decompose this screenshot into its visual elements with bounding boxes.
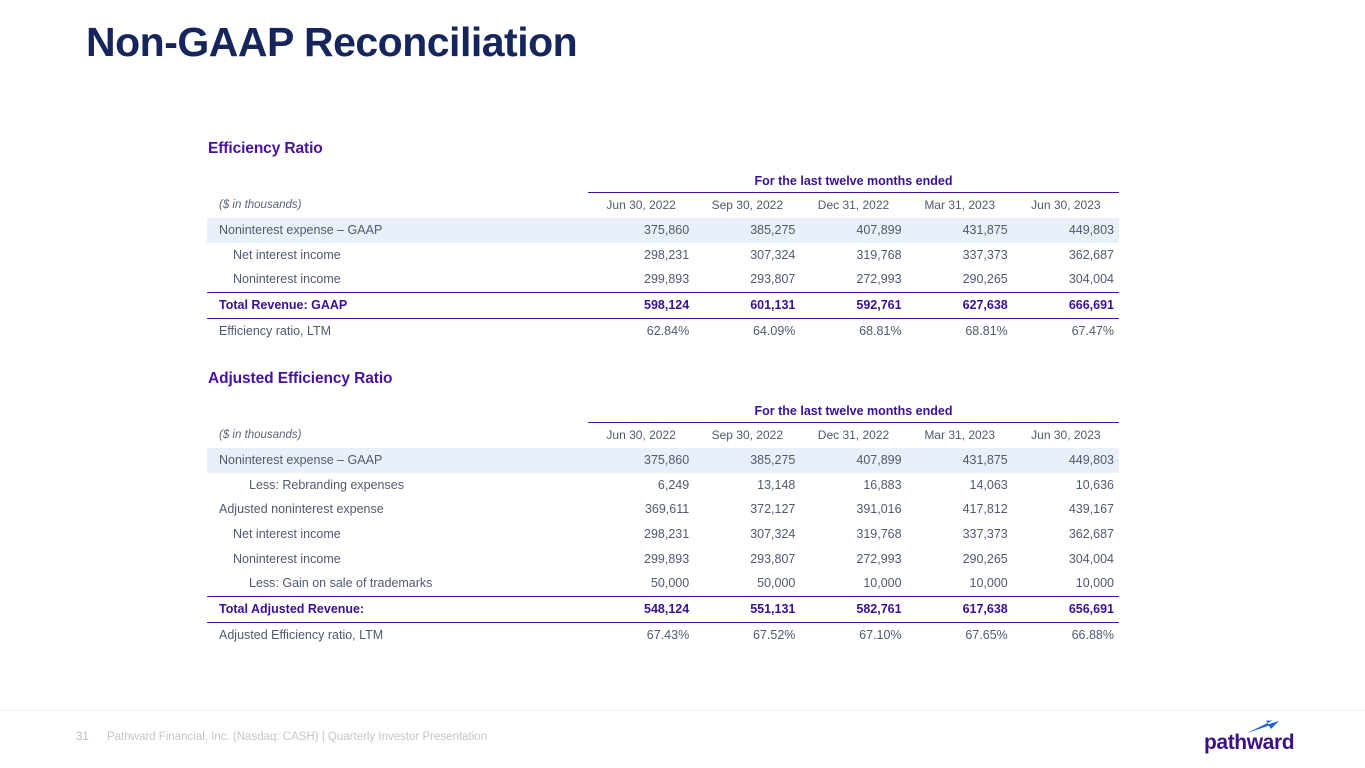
row-label: Total Adjusted Revenue:: [207, 596, 588, 622]
row-value: 304,004: [1013, 546, 1119, 571]
row-value: 431,875: [907, 448, 1013, 473]
row-value: 66.88%: [1013, 622, 1119, 647]
efficiency-ratio-table: ($ in thousands) Jun 30, 2022 Sep 30, 20…: [207, 192, 1119, 343]
footer-divider: [0, 710, 1365, 711]
row-value: 10,000: [1013, 571, 1119, 596]
logo-wordmark: pathward: [1204, 732, 1294, 753]
row-label: Noninterest income: [207, 546, 588, 571]
row-value: 10,636: [1013, 473, 1119, 498]
row-label: Adjusted Efficiency ratio, LTM: [207, 622, 588, 647]
table-row: Noninterest expense – GAAP375,860385,275…: [207, 218, 1119, 243]
row-value: 67.10%: [800, 622, 906, 647]
footer-page-number: 31: [76, 731, 89, 743]
column-header-3: Dec 31, 2022: [800, 193, 906, 219]
row-label: Less: Rebranding expenses: [207, 473, 588, 498]
table-row: Noninterest expense – GAAP375,860385,275…: [207, 448, 1119, 473]
table-row: Adjusted Efficiency ratio, LTM67.43%67.5…: [207, 622, 1119, 647]
column-header-4: Mar 31, 2023: [907, 193, 1013, 219]
row-value: 362,687: [1013, 243, 1119, 268]
span-header-adjusted: For the last twelve months ended: [588, 404, 1119, 422]
row-value: 319,768: [800, 522, 906, 547]
row-value: 362,687: [1013, 522, 1119, 547]
row-value: 299,893: [588, 546, 694, 571]
row-value: 598,124: [588, 292, 694, 318]
row-value: 10,000: [907, 571, 1013, 596]
row-value: 439,167: [1013, 497, 1119, 522]
row-label: Efficiency ratio, LTM: [207, 318, 588, 343]
row-value: 290,265: [907, 267, 1013, 292]
efficiency-ratio-table-block: Efficiency Ratio For the last twelve mon…: [207, 140, 1119, 343]
column-header-5: Jun 30, 2023: [1013, 423, 1119, 449]
table-row: Less: Rebranding expenses6,24913,14816,8…: [207, 473, 1119, 498]
table-row: Total Revenue: GAAP598,124601,131592,761…: [207, 292, 1119, 318]
row-value: 375,860: [588, 218, 694, 243]
section-title-efficiency-ratio: Efficiency Ratio: [208, 140, 1119, 158]
row-value: 601,131: [694, 292, 800, 318]
column-header-2: Sep 30, 2022: [694, 193, 800, 219]
table-row: Net interest income298,231307,324319,768…: [207, 522, 1119, 547]
row-value: 272,993: [800, 546, 906, 571]
row-value: 666,691: [1013, 292, 1119, 318]
row-value: 319,768: [800, 243, 906, 268]
footer-text: Pathward Financial, Inc. (Nasdaq: CASH) …: [107, 731, 487, 743]
row-value: 449,803: [1013, 448, 1119, 473]
column-header-1: Jun 30, 2022: [588, 193, 694, 219]
row-value: 407,899: [800, 448, 906, 473]
row-value: 656,691: [1013, 596, 1119, 622]
efficiency-ratio-table-body: Noninterest expense – GAAP375,860385,275…: [207, 218, 1119, 343]
row-value: 67.47%: [1013, 318, 1119, 343]
table-row: Noninterest income299,893293,807272,9932…: [207, 267, 1119, 292]
row-label: Net interest income: [207, 522, 588, 547]
row-label: Adjusted noninterest expense: [207, 497, 588, 522]
pathward-logo: pathward: [1204, 720, 1300, 758]
unit-note: ($ in thousands): [207, 193, 588, 219]
adjusted-efficiency-ratio-table-body: Noninterest expense – GAAP375,860385,275…: [207, 448, 1119, 647]
row-value: 548,124: [588, 596, 694, 622]
table-row: Efficiency ratio, LTM62.84%64.09%68.81%6…: [207, 318, 1119, 343]
adjusted-efficiency-ratio-table-block: Adjusted Efficiency Ratio For the last t…: [207, 370, 1119, 647]
row-value: 6,249: [588, 473, 694, 498]
row-value: 431,875: [907, 218, 1013, 243]
row-label: Noninterest expense – GAAP: [207, 218, 588, 243]
row-value: 385,275: [694, 218, 800, 243]
row-value: 582,761: [800, 596, 906, 622]
row-value: 592,761: [800, 292, 906, 318]
row-value: 449,803: [1013, 218, 1119, 243]
row-value: 307,324: [694, 522, 800, 547]
row-value: 417,812: [907, 497, 1013, 522]
table-header-row: ($ in thousands) Jun 30, 2022 Sep 30, 20…: [207, 423, 1119, 449]
row-label: Less: Gain on sale of trademarks: [207, 571, 588, 596]
table-row: Net interest income298,231307,324319,768…: [207, 243, 1119, 268]
row-value: 290,265: [907, 546, 1013, 571]
row-value: 68.81%: [907, 318, 1013, 343]
row-value: 298,231: [588, 522, 694, 547]
row-value: 298,231: [588, 243, 694, 268]
row-value: 372,127: [694, 497, 800, 522]
row-label: Noninterest income: [207, 267, 588, 292]
row-value: 13,148: [694, 473, 800, 498]
table-header-row: ($ in thousands) Jun 30, 2022 Sep 30, 20…: [207, 193, 1119, 219]
row-value: 391,016: [800, 497, 906, 522]
row-value: 385,275: [694, 448, 800, 473]
row-label: Noninterest expense – GAAP: [207, 448, 588, 473]
row-value: 307,324: [694, 243, 800, 268]
row-value: 293,807: [694, 546, 800, 571]
section-title-adjusted-efficiency-ratio: Adjusted Efficiency Ratio: [208, 370, 1119, 388]
row-value: 68.81%: [800, 318, 906, 343]
row-value: 16,883: [800, 473, 906, 498]
unit-note: ($ in thousands): [207, 423, 588, 449]
column-header-3: Dec 31, 2022: [800, 423, 906, 449]
row-value: 64.09%: [694, 318, 800, 343]
row-value: 337,373: [907, 522, 1013, 547]
row-value: 67.65%: [907, 622, 1013, 647]
column-header-2: Sep 30, 2022: [694, 423, 800, 449]
row-value: 14,063: [907, 473, 1013, 498]
table-row: Adjusted noninterest expense369,611372,1…: [207, 497, 1119, 522]
row-value: 617,638: [907, 596, 1013, 622]
column-header-1: Jun 30, 2022: [588, 423, 694, 449]
row-value: 337,373: [907, 243, 1013, 268]
page-title: Non-GAAP Reconciliation: [86, 18, 577, 67]
row-value: 369,611: [588, 497, 694, 522]
row-value: 551,131: [694, 596, 800, 622]
row-value: 10,000: [800, 571, 906, 596]
row-value: 407,899: [800, 218, 906, 243]
row-value: 304,004: [1013, 267, 1119, 292]
table-row: Noninterest income299,893293,807272,9932…: [207, 546, 1119, 571]
adjusted-efficiency-ratio-table: ($ in thousands) Jun 30, 2022 Sep 30, 20…: [207, 422, 1119, 647]
table-row: Total Adjusted Revenue:548,124551,131582…: [207, 596, 1119, 622]
row-value: 67.52%: [694, 622, 800, 647]
row-value: 67.43%: [588, 622, 694, 647]
row-label: Total Revenue: GAAP: [207, 292, 588, 318]
row-value: 293,807: [694, 267, 800, 292]
row-value: 627,638: [907, 292, 1013, 318]
row-value: 299,893: [588, 267, 694, 292]
row-value: 62.84%: [588, 318, 694, 343]
span-header-efficiency: For the last twelve months ended: [588, 174, 1119, 192]
column-header-4: Mar 31, 2023: [907, 423, 1013, 449]
row-value: 50,000: [694, 571, 800, 596]
row-value: 50,000: [588, 571, 694, 596]
column-header-5: Jun 30, 2023: [1013, 193, 1119, 219]
row-value: 272,993: [800, 267, 906, 292]
row-label: Net interest income: [207, 243, 588, 268]
table-row: Less: Gain on sale of trademarks50,00050…: [207, 571, 1119, 596]
row-value: 375,860: [588, 448, 694, 473]
